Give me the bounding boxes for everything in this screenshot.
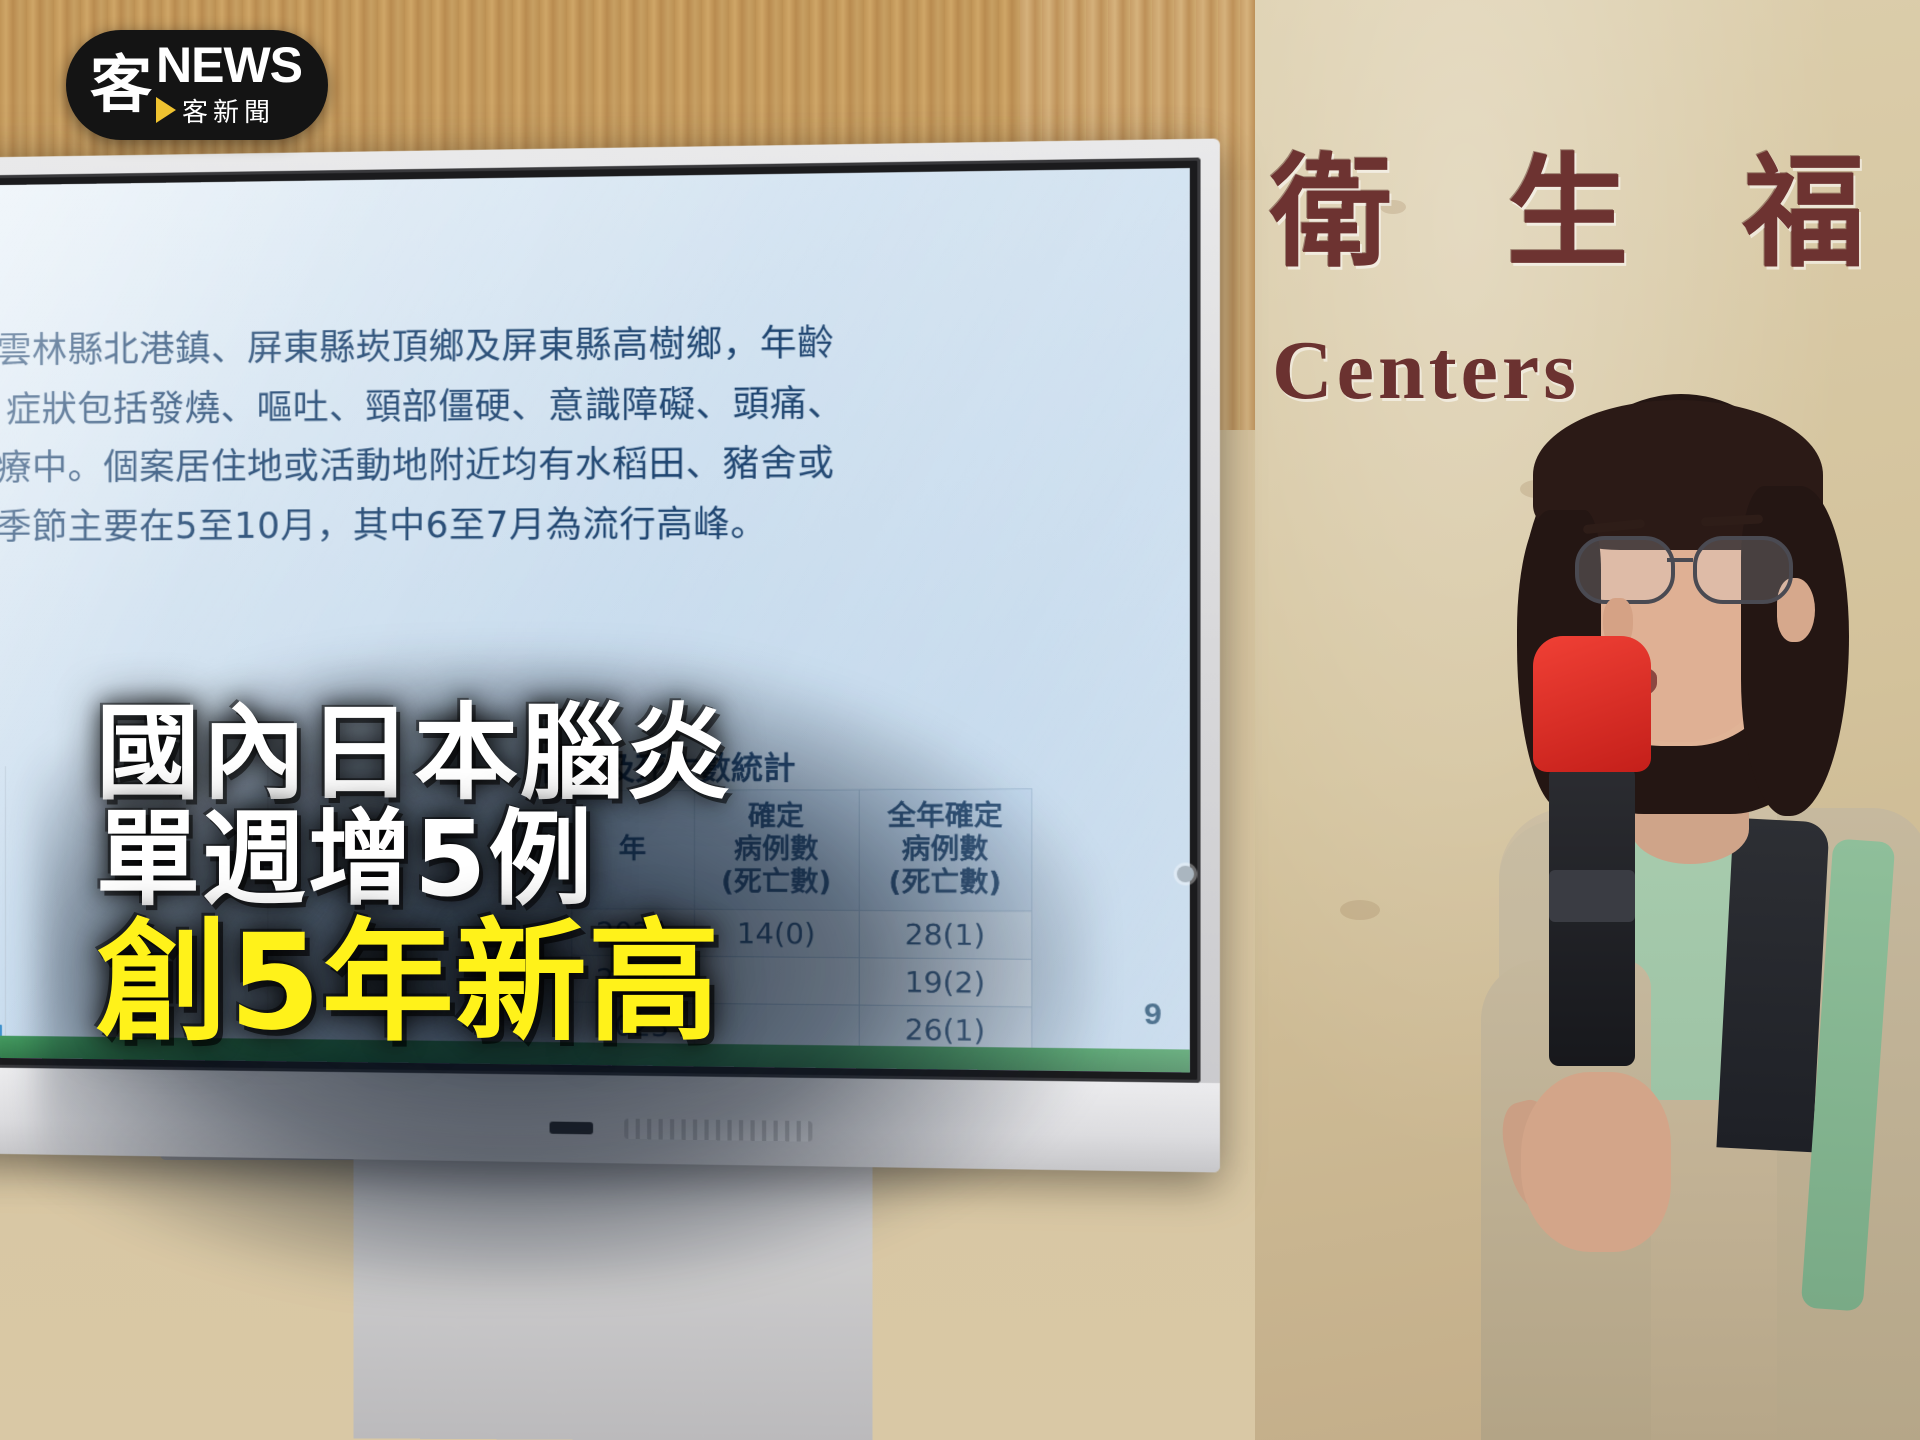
th-line: 病例數 (864, 833, 1027, 866)
chart-year-divider (5, 766, 6, 1072)
logo-news-text: NEWS (156, 42, 302, 88)
wall-texture-speck (1380, 200, 1406, 214)
glasses-lens-right (1693, 536, 1793, 604)
epidemic-curve-chart: 0507091101030507091101030507 20232024202… (0, 765, 388, 1072)
glasses-bridge (1667, 558, 1693, 562)
person-hand (1521, 1072, 1671, 1252)
table-col-year: 年 (572, 790, 694, 909)
case-statistics-table: 例數及死亡數統計 年 確定 病例數 (571, 789, 1032, 1073)
speaker-person (1425, 400, 1920, 1440)
slide-body-text: 彰化縣花壇鄉、雲林縣北港鎮、屏東縣崁頂鄉及屏東縣高樹鄉，年齡 介於6/9-6/2… (0, 311, 1190, 559)
table-cell-year: 2022 (572, 955, 694, 1003)
chart-year-divider (267, 767, 268, 1072)
slide-body-line: 彰化縣花壇鄉、雲林縣北港鎮、屏東縣崁頂鄉及屏東縣高樹鄉，年齡 (0, 311, 1190, 382)
table-cell-year: 2021 (572, 908, 694, 955)
table-header-row: 年 確定 病例數 (死亡數) 全年確定 病例數 (572, 789, 1032, 911)
display-power-button[interactable] (1177, 866, 1194, 883)
th-line: (死亡數) (699, 866, 855, 899)
logo-mark: 客 (90, 54, 152, 116)
table-head: 年 確定 病例數 (死亡數) 全年確定 病例數 (572, 789, 1032, 911)
display-chin (0, 1067, 1220, 1172)
logo-subtitle-row: 客新聞 (156, 92, 302, 129)
table-cell-full: 19(2) (859, 957, 1032, 1006)
th-line: 病例數 (699, 833, 855, 866)
display-bezel: 增5例 彰化縣花壇鄉、雲林縣北港鎮、屏東縣崁頂鄉及屏東縣高樹鄉，年齡 介於6/9… (0, 158, 1201, 1083)
presentation-slide: 增5例 彰化縣花壇鄉、雲林縣北港鎮、屏東縣崁頂鄉及屏東縣高樹鄉，年齡 介於6/9… (0, 168, 1190, 1072)
slide-body-line: 縣市。臺灣流行季節主要在5至10月，其中6至7月為流行高峰。 (0, 494, 1190, 557)
table-caption: 例數及死亡數統計 (541, 742, 796, 789)
table-col-ytd: 確定 病例數 (死亡數) (694, 790, 859, 910)
th-line: 年 (576, 833, 689, 865)
play-triangle-icon (156, 97, 176, 123)
slide-body-line: 介於6/9-6/23，症狀包括發燒、嘔吐、頸部僵硬、意識障礙、頭痛、 (0, 372, 1190, 441)
table-cell-ytd: 14(0) (694, 909, 859, 957)
th-line: (死亡數) (864, 866, 1027, 900)
logo-text-block: NEWS 客新聞 (156, 42, 302, 129)
table-row: 202114(0)28(1) (572, 908, 1032, 958)
chart-bars (0, 765, 394, 1072)
glasses-lens-left (1575, 536, 1675, 604)
table-col-full-year: 全年確定 病例數 (死亡數) (859, 789, 1032, 911)
ir-sensor-icon (550, 1122, 594, 1135)
person-vest-dark-panel (1716, 818, 1829, 1153)
slide-page-number: 9 (1144, 997, 1162, 1032)
table-cell-full: 28(1) (859, 910, 1032, 959)
th-line: 全年確定 (864, 800, 1027, 833)
logo-subtitle-text: 客新聞 (182, 92, 275, 129)
display-screen: 增5例 彰化縣花壇鄉、雲林縣北港鎮、屏東縣崁頂鄉及屏東縣高樹鄉，年齡 介於6/9… (0, 168, 1190, 1072)
slide-body-line: 。目前均住院治療中。個案居住地或活動地附近均有水稻田、豬舍或 (0, 433, 1190, 499)
statistics-table: 年 確定 病例數 (死亡數) 全年確定 病例數 (571, 789, 1032, 1073)
microphone-head (1533, 636, 1651, 772)
speaker-grille (624, 1118, 812, 1141)
microphone-band (1549, 870, 1635, 922)
display-stand (353, 1138, 872, 1440)
presentation-display: 增5例 彰化縣花壇鄉、雲林縣北港鎮、屏東縣崁頂鄉及屏東縣高樹鄉，年齡 介於6/9… (0, 139, 1220, 1173)
person-glasses (1575, 536, 1797, 598)
news-screenshot: 衛 生 福 利 Centers 增5例 彰化縣花壇鄉、雲林縣北港鎮、屏東縣崁頂鄉… (0, 0, 1920, 1440)
table-row: 202219(2) (572, 955, 1032, 1007)
channel-logo[interactable]: 客 NEWS 客新聞 (66, 30, 328, 140)
th-line: 確定 (699, 801, 855, 834)
table-cell-ytd (694, 956, 859, 1005)
wall-texture-speck (1340, 900, 1380, 920)
